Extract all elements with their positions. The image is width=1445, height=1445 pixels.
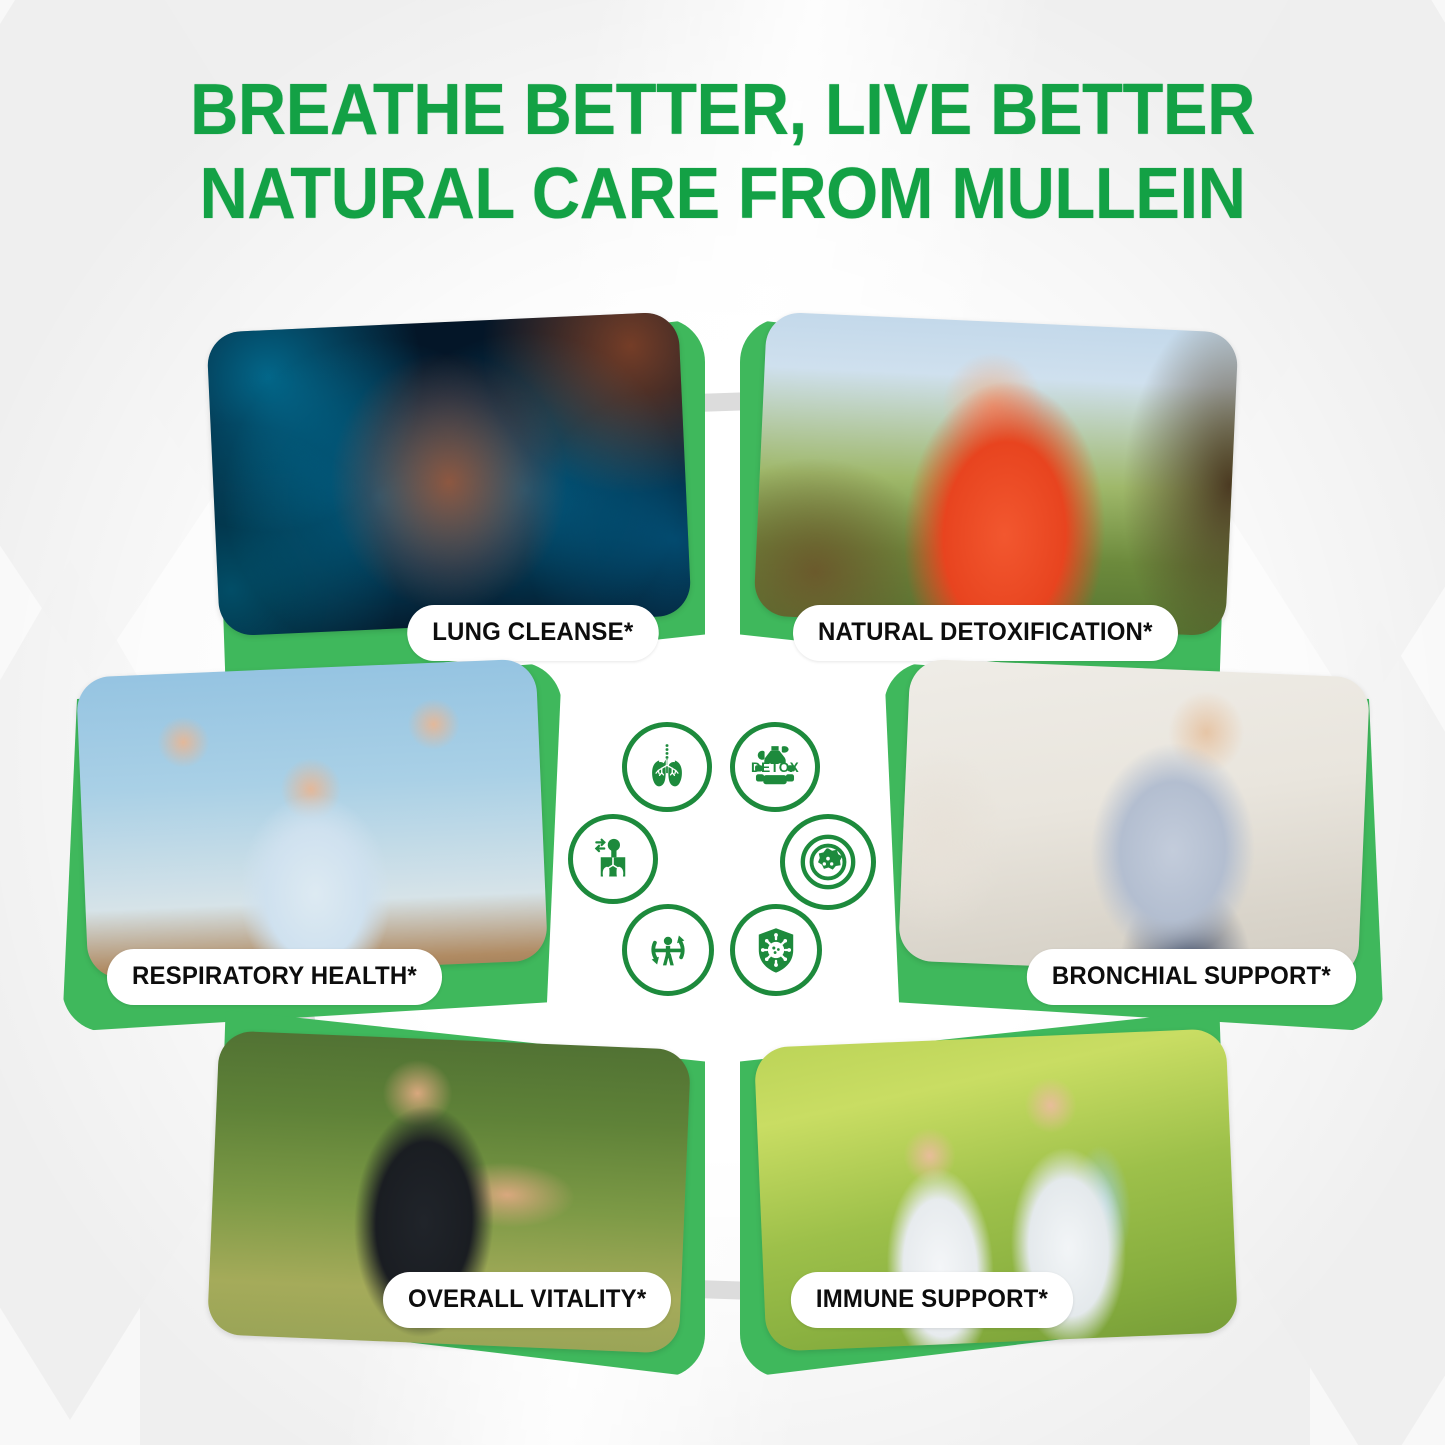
- detox-label: DETOX: [751, 760, 799, 775]
- detox-bottle-icon[interactable]: DETOX: [730, 722, 820, 812]
- card-label-natural-detoxification: NATURAL DETOXIFICATION*: [793, 605, 1178, 661]
- card-image-bitmap: [206, 311, 691, 636]
- headline-line-1: BREATHE BETTER, LIVE BETTER: [51, 74, 1395, 146]
- card-image: [898, 659, 1370, 980]
- card-lung-cleanse[interactable]: LUNG CLEANSE*: [195, 318, 705, 686]
- card-image: [753, 311, 1238, 636]
- card-image-bitmap: [753, 311, 1238, 636]
- lungs-icon[interactable]: [622, 722, 712, 812]
- alveoli-target-icon[interactable]: [780, 814, 876, 910]
- breathing-airflow-icon[interactable]: [568, 814, 658, 904]
- vitality-renewal-icon[interactable]: [622, 904, 714, 996]
- immune-shield-virus-icon[interactable]: [730, 904, 822, 996]
- benefit-icon-cluster: DETOX: [566, 718, 866, 998]
- headline-line-2: NATURAL CARE FROM MULLEIN: [51, 158, 1395, 230]
- card-label-immune-support: IMMUNE SUPPORT*: [791, 1272, 1073, 1328]
- card-label-overall-vitality: OVERALL VITALITY*: [383, 1272, 671, 1328]
- card-image: [76, 659, 548, 980]
- card-bronchial-support[interactable]: BRONCHIAL SUPPORT*: [884, 662, 1384, 1032]
- card-image-bitmap: [76, 659, 548, 980]
- card-image-bitmap: [898, 659, 1370, 980]
- page-title: BREATHE BETTER, LIVE BETTER NATURAL CARE…: [0, 74, 1445, 230]
- card-overall-vitality[interactable]: OVERALL VITALITY*: [195, 1010, 705, 1378]
- card-label-bronchial-support: BRONCHIAL SUPPORT*: [1027, 949, 1356, 1005]
- card-image: [206, 311, 691, 636]
- card-label-lung-cleanse: LUNG CLEANSE*: [407, 605, 658, 661]
- infographic-canvas: BREATHE BETTER, LIVE BETTER NATURAL CARE…: [0, 0, 1445, 1445]
- card-immune-support[interactable]: IMMUNE SUPPORT*: [740, 1010, 1250, 1378]
- card-label-respiratory-health: RESPIRATORY HEALTH*: [107, 949, 442, 1005]
- card-respiratory-health[interactable]: RESPIRATORY HEALTH*: [62, 662, 562, 1032]
- card-natural-detoxification[interactable]: NATURAL DETOXIFICATION*: [740, 318, 1250, 686]
